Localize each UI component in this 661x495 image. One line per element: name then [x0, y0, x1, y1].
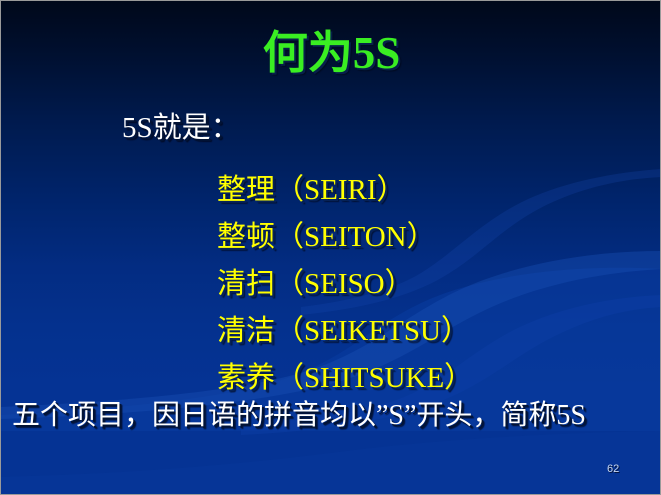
intro-line: 5S就是： — [122, 110, 240, 146]
presentation-slide: 何为5S 5S就是： 整理（SEIRI） 整顿（SEITON） 清扫（SEISO… — [0, 0, 661, 495]
list-item: 清洁（SEIKETSU） — [217, 308, 657, 355]
five-s-list: 整理（SEIRI） 整顿（SEITON） 清扫（SEISO） 清洁（SEIKET… — [217, 167, 657, 402]
list-item: 素养（SHITSUKE） — [217, 355, 657, 402]
page-number: 62 — [607, 463, 619, 476]
list-item: 清扫（SEISO） — [217, 261, 657, 308]
slide-title: 何为5S — [1, 27, 661, 79]
footnote-line: 五个项目，因日语的拼音均以”S”开头，简称5S — [12, 398, 586, 434]
list-item: 整顿（SEITON） — [217, 214, 657, 261]
list-item: 整理（SEIRI） — [217, 167, 657, 214]
